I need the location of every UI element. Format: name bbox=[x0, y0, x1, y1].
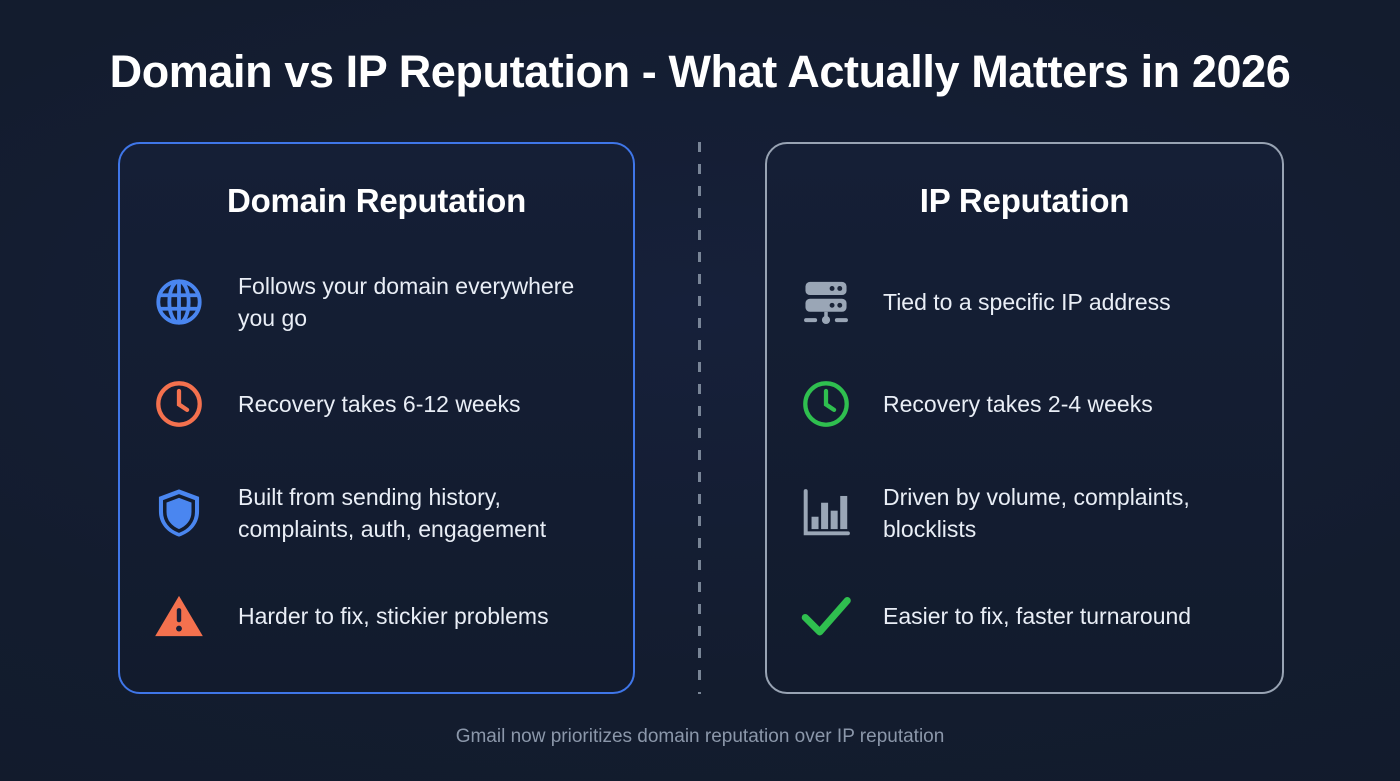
clock-icon bbox=[795, 373, 857, 435]
feature-list-ip-reputation: Tied to a specific IP address Recovery t… bbox=[795, 254, 1254, 664]
card-domain-reputation: Domain Reputation Follows your domain ev… bbox=[118, 142, 635, 694]
feature-label: Tied to a specific IP address bbox=[857, 286, 1171, 318]
feature-label: Recovery takes 2-4 weeks bbox=[857, 388, 1153, 420]
feature-row: Built from sending history, complaints, … bbox=[148, 458, 605, 568]
comparison-area: Domain Reputation Follows your domain ev… bbox=[0, 142, 1400, 694]
card-title-ip-reputation: IP Reputation bbox=[795, 182, 1254, 220]
feature-label: Driven by volume, complaints, blocklists bbox=[857, 481, 1254, 545]
server-icon bbox=[795, 271, 857, 333]
shield-icon bbox=[148, 482, 210, 544]
feature-row: Easier to fix, faster turnaround bbox=[795, 568, 1254, 664]
feature-label: Easier to fix, faster turnaround bbox=[857, 600, 1191, 632]
card-ip-reputation: IP Reputation bbox=[765, 142, 1284, 694]
feature-label: Harder to fix, stickier problems bbox=[210, 600, 549, 632]
feature-label: Built from sending history, complaints, … bbox=[210, 481, 605, 545]
feature-row: Tied to a specific IP address bbox=[795, 254, 1254, 350]
feature-row: Recovery takes 2-4 weeks bbox=[795, 350, 1254, 458]
globe-icon bbox=[148, 271, 210, 333]
clock-icon bbox=[148, 373, 210, 435]
card-title-domain-reputation: Domain Reputation bbox=[148, 182, 605, 220]
check-icon bbox=[795, 585, 857, 647]
feature-row: Follows your domain everywhere you go bbox=[148, 254, 605, 350]
bar-chart-icon bbox=[795, 482, 857, 544]
vertical-dashed-divider bbox=[698, 142, 701, 694]
feature-row: Harder to fix, stickier problems bbox=[148, 568, 605, 664]
feature-row: Driven by volume, complaints, blocklists bbox=[795, 458, 1254, 568]
page-title: Domain vs IP Reputation - What Actually … bbox=[0, 46, 1400, 98]
footer-note: Gmail now prioritizes domain reputation … bbox=[0, 726, 1400, 748]
warning-triangle-icon bbox=[148, 585, 210, 647]
feature-label: Recovery takes 6-12 weeks bbox=[210, 388, 521, 420]
feature-list-domain-reputation: Follows your domain everywhere you go Re… bbox=[148, 254, 605, 664]
feature-label: Follows your domain everywhere you go bbox=[210, 270, 605, 334]
feature-row: Recovery takes 6-12 weeks bbox=[148, 350, 605, 458]
